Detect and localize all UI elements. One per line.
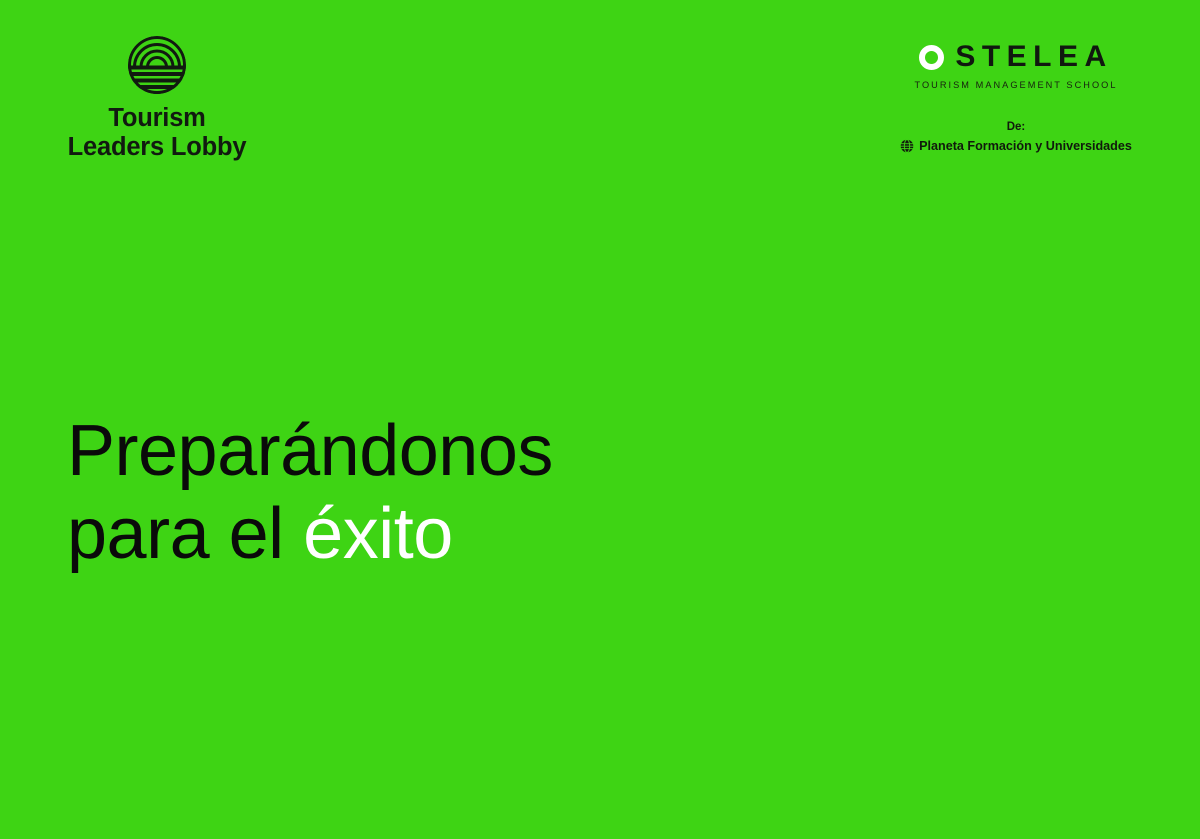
- headline-line-2-prefix: para el: [67, 494, 303, 574]
- stelea-o-ring-icon: [919, 45, 944, 70]
- planeta-company-name: Planeta Formación y Universidades: [919, 139, 1132, 153]
- wordmark-line-1: Tourism: [108, 104, 205, 132]
- planeta-attribution: Planeta Formación y Universidades: [898, 139, 1134, 153]
- stelea-logo-lockup: STELEA: [898, 40, 1134, 74]
- headline-line-1: Preparándonos: [67, 410, 553, 493]
- headline-accent-word: éxito: [303, 494, 453, 574]
- slide-canvas: Tourism Leaders Lobby STELEA TOURISM MAN…: [0, 0, 1200, 839]
- slide-headline: Preparándonos para el éxito: [67, 410, 553, 576]
- headline-line-2: para el éxito: [67, 493, 553, 576]
- tourism-leaders-lobby-logo: Tourism Leaders Lobby: [67, 34, 247, 162]
- tourism-leaders-lobby-wordmark: Tourism Leaders Lobby: [67, 104, 247, 162]
- attribution-label: De:: [898, 121, 1134, 133]
- sun-over-water-icon: [126, 34, 188, 96]
- stelea-wordmark: STELEA: [953, 42, 1112, 72]
- wordmark-line-2: Leaders Lobby: [68, 133, 247, 161]
- stelea-tagline: TOURISM MANAGEMENT SCHOOL: [898, 80, 1134, 90]
- stelea-brand-block: STELEA TOURISM MANAGEMENT SCHOOL De: Pla…: [898, 40, 1134, 153]
- globe-icon: [900, 139, 914, 153]
